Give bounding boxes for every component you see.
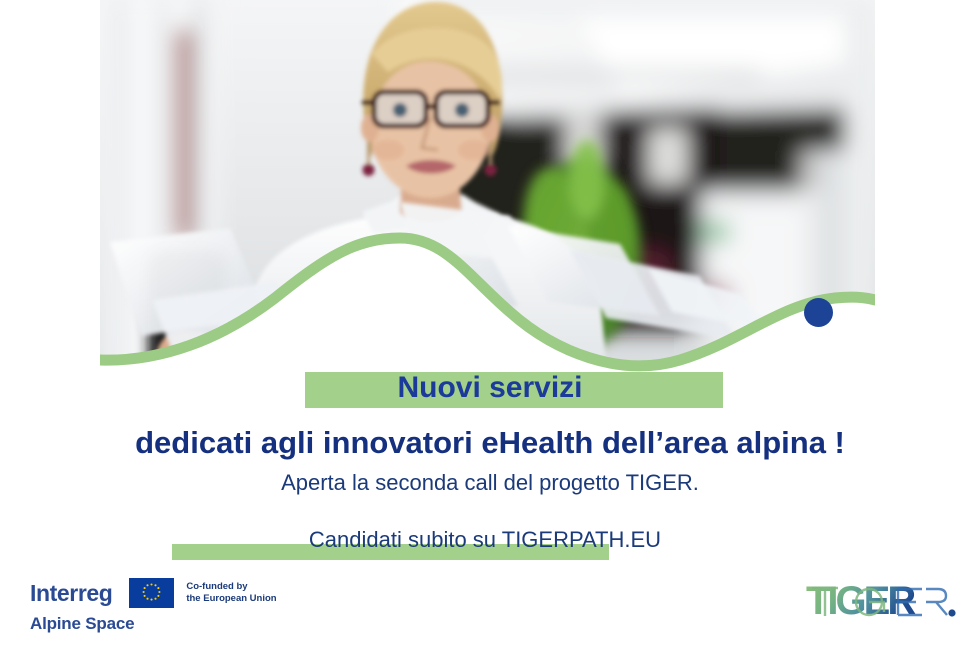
eu-emblem: Co-funded by the European Union [129, 578, 277, 608]
headline-line1-row: Nuovi servizi [0, 360, 980, 408]
eu-flag-icon [129, 578, 174, 608]
headline-line4-row: Candidati subito su TIGERPATH.EU [0, 526, 980, 562]
tiger-dot-icon [948, 609, 955, 616]
eu-funding-line2: the European Union [186, 593, 276, 605]
poster-canvas: Nuovi servizi dedicati agli innovatori e… [0, 0, 980, 652]
eu-funding-line1: Co-funded by [186, 581, 276, 593]
headline-block: Nuovi servizi dedicati agli innovatori e… [0, 360, 980, 562]
blue-dot-accent [804, 298, 833, 327]
hero-photo [100, 0, 875, 380]
interreg-logo: Interreg [30, 578, 330, 640]
hero-photo-illustration [100, 0, 875, 380]
tiger-logo: TIGER [806, 578, 956, 626]
interreg-programme-label: Alpine Space [30, 614, 330, 634]
headline-line2: dedicati agli innovatori eHealth dell’ar… [0, 422, 980, 464]
tiger-wordmark-svg: TIGER [806, 578, 956, 626]
headline-line3: Aperta la seconda call del progetto TIGE… [0, 468, 980, 498]
eu-flag-stars [129, 578, 174, 608]
headline-line1: Nuovi servizi [0, 360, 980, 408]
headline-line4-cta[interactable]: Candidati subito su TIGERPATH.EU [0, 526, 980, 554]
interreg-wordmark: Interreg [30, 580, 112, 606]
eu-funding-text: Co-funded by the European Union [186, 581, 276, 605]
